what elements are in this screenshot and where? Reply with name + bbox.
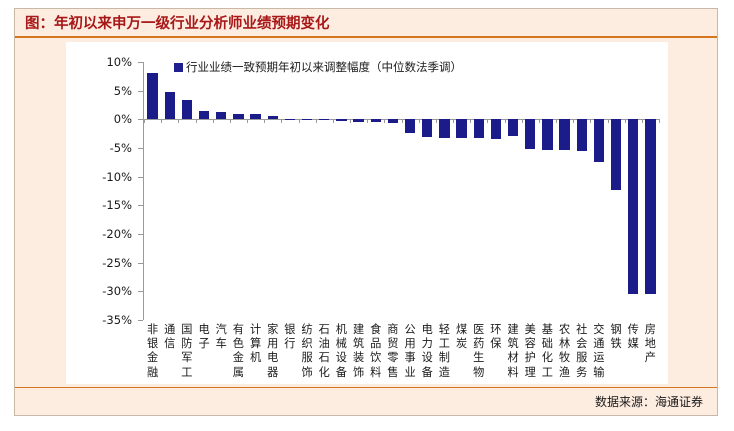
x-axis-label: 钢铁 [609, 323, 623, 351]
y-tick-label: -5% [110, 141, 132, 155]
bar [491, 119, 501, 139]
bar [285, 119, 295, 120]
bar [233, 114, 243, 119]
x-axis-label: 电子 [197, 323, 211, 351]
x-tick-mark [281, 119, 282, 123]
page-title: 图：年初以来申万一级行业分析师业绩预期变化 [15, 12, 330, 33]
x-axis-label: 房地产 [643, 323, 657, 366]
source-note: 数据来源：海通证券 [595, 393, 717, 410]
bar [336, 119, 346, 121]
bar [456, 119, 466, 138]
bar [165, 92, 175, 119]
x-axis-label: 计算机 [249, 323, 263, 366]
y-tick-label: 0% [114, 112, 132, 126]
bar [508, 119, 518, 136]
x-tick-mark [487, 119, 488, 123]
x-axis-label: 汽车 [214, 323, 228, 351]
x-axis-label: 环保 [489, 323, 503, 351]
bar [302, 119, 312, 120]
y-tick-mark [138, 320, 143, 321]
bar [474, 119, 484, 137]
x-tick-mark [402, 119, 403, 123]
bar [353, 119, 363, 121]
x-axis-label: 非银金融 [146, 323, 160, 380]
bars-layer [144, 42, 659, 342]
x-axis-label: 轻工制造 [437, 323, 451, 380]
x-tick-mark [350, 119, 351, 123]
bar [628, 119, 638, 294]
x-tick-mark [625, 119, 626, 123]
x-axis-label: 食品饮料 [369, 323, 383, 380]
x-axis-label: 社会服务 [575, 323, 589, 380]
y-tick-label: -25% [102, 256, 132, 270]
x-axis-label: 基础化工 [540, 323, 554, 380]
y-tick-label: 5% [114, 84, 132, 98]
bar [405, 119, 415, 132]
bar [388, 119, 398, 122]
x-axis-label: 通信 [163, 323, 177, 351]
x-tick-mark [230, 119, 231, 123]
x-tick-mark [161, 119, 162, 123]
x-tick-mark [144, 119, 145, 123]
y-tick-label: -30% [102, 284, 132, 298]
figure-title-bar: 图：年初以来申万一级行业分析师业绩预期变化 [15, 9, 717, 38]
x-axis-label: 商贸零售 [386, 323, 400, 380]
x-axis-label: 交通运输 [592, 323, 606, 380]
x-tick-mark [573, 119, 574, 123]
bar [439, 119, 449, 137]
x-tick-mark [247, 119, 248, 123]
x-axis-label: 建筑装饰 [352, 323, 366, 380]
bar [559, 119, 569, 150]
x-tick-mark [196, 119, 197, 123]
x-axis-label: 纺织服饰 [300, 323, 314, 380]
bar [577, 119, 587, 151]
x-tick-mark [367, 119, 368, 123]
x-tick-mark [590, 119, 591, 123]
x-axis-label: 美容护理 [523, 323, 537, 380]
x-axis-label: 家用电器 [266, 323, 280, 380]
y-tick-label: -10% [102, 170, 132, 184]
bar [645, 119, 655, 294]
x-axis: 非银金融通信国防军工电子汽车有色金属计算机家用电器银行纺织服饰石油石化机械设备建… [144, 323, 659, 384]
x-tick-mark [419, 119, 420, 123]
x-tick-mark [436, 119, 437, 123]
x-tick-mark [659, 119, 660, 123]
x-tick-mark [642, 119, 643, 123]
bar [147, 73, 157, 119]
x-axis-label: 传媒 [626, 323, 640, 351]
x-tick-mark [539, 119, 540, 123]
y-tick-label: -15% [102, 198, 132, 212]
bar [611, 119, 621, 190]
bar [525, 119, 535, 149]
y-tick-label: -35% [102, 313, 132, 327]
x-tick-mark [453, 119, 454, 123]
x-tick-mark [299, 119, 300, 123]
chart-panel: 行业业绩一致预期年初以来调整幅度（中位数法季调） 10%5%0%-5%-10%-… [66, 42, 668, 384]
bar [268, 116, 278, 119]
bar [216, 112, 226, 119]
x-axis-label: 公用事业 [403, 323, 417, 380]
bar [199, 111, 209, 120]
x-axis-label: 石油石化 [317, 323, 331, 380]
x-axis-label: 建筑材料 [506, 323, 520, 380]
y-tick-label: -20% [102, 227, 132, 241]
x-tick-mark [178, 119, 179, 123]
x-tick-mark [608, 119, 609, 123]
bar-chart: 行业业绩一致预期年初以来调整幅度（中位数法季调） 10%5%0%-5%-10%-… [66, 42, 668, 384]
x-tick-mark [213, 119, 214, 123]
x-axis-label: 有色金属 [231, 323, 245, 380]
x-tick-mark [505, 119, 506, 123]
x-tick-mark [522, 119, 523, 123]
x-axis-label: 电力设备 [420, 323, 434, 380]
bar [319, 119, 329, 120]
bar [182, 100, 192, 119]
bar [250, 114, 260, 119]
bar [371, 119, 381, 122]
x-tick-mark [470, 119, 471, 123]
x-tick-mark [264, 119, 265, 123]
x-tick-mark [556, 119, 557, 123]
figure-frame: 图：年初以来申万一级行业分析师业绩预期变化 行业业绩一致预期年初以来调整幅度（中… [14, 8, 718, 416]
x-axis-label: 国防军工 [180, 323, 194, 380]
x-axis-label: 银行 [283, 323, 297, 351]
bar [542, 119, 552, 149]
x-axis-label: 机械设备 [334, 323, 348, 380]
bar [594, 119, 604, 162]
x-tick-mark [316, 119, 317, 123]
x-axis-label: 医药生物 [472, 323, 486, 380]
figure-source-bar: 数据来源：海通证券 [15, 387, 717, 415]
x-axis-label: 煤炭 [455, 323, 469, 351]
x-tick-mark [333, 119, 334, 123]
y-tick-label: 10% [106, 55, 132, 69]
bar [422, 119, 432, 137]
x-axis-label: 农林牧渔 [558, 323, 572, 380]
x-tick-mark [384, 119, 385, 123]
y-axis: 10%5%0%-5%-10%-15%-20%-25%-30%-35% [66, 42, 138, 384]
